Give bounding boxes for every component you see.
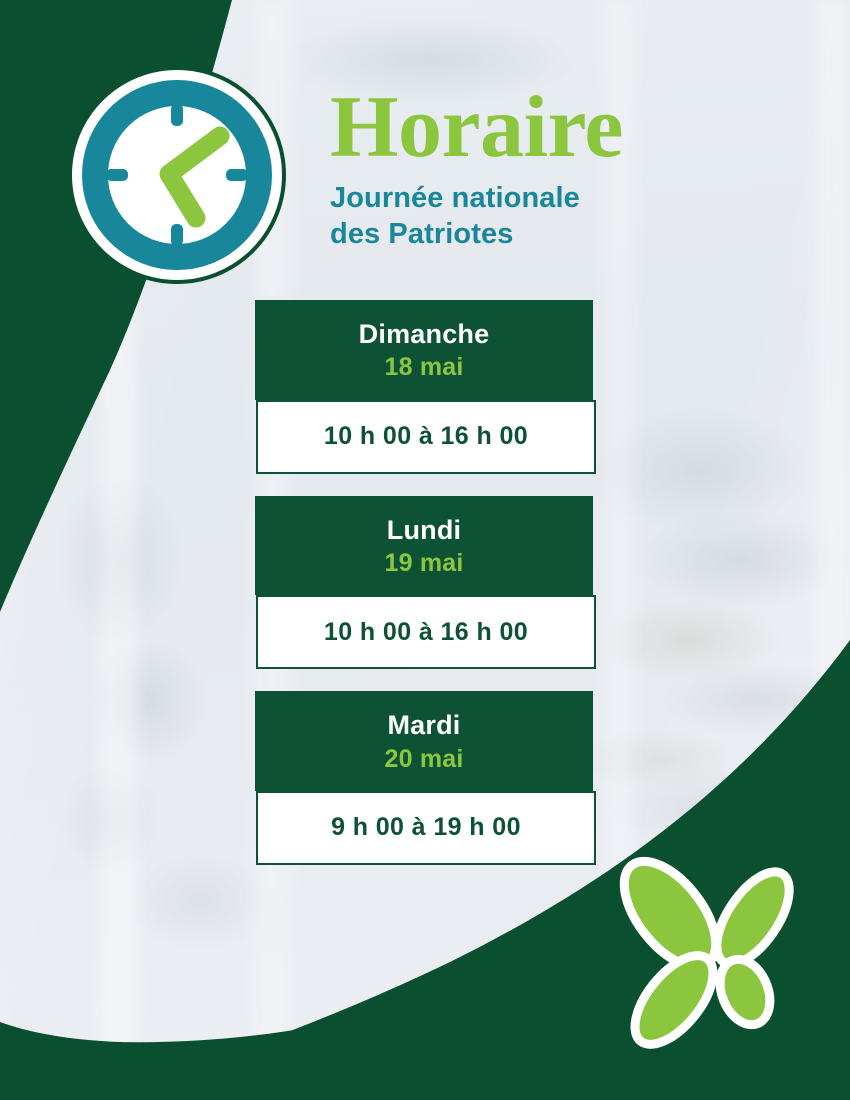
schedule-hours-value: 9 h 00 à 19 h 00 (256, 791, 596, 865)
poster-subtitle: Journée nationale des Patriotes (330, 180, 810, 253)
schedule-poster: Horaire Journée nationale des Patriotes … (0, 0, 850, 1100)
schedule-day-label: Mardi (255, 709, 593, 741)
subtitle-line-2: des Patriotes (330, 218, 513, 250)
schedule-hours-value: 10 h 00 à 16 h 00 (256, 595, 596, 669)
schedule-list: Dimanche 18 mai 10 h 00 à 16 h 00 Lundi … (255, 300, 595, 887)
schedule-card: Dimanche 18 mai 10 h 00 à 16 h 00 (255, 300, 595, 474)
schedule-card-header: Dimanche 18 mai (255, 300, 593, 400)
subtitle-line-1: Journée nationale (330, 182, 580, 214)
poster-header: Horaire Journée nationale des Patriotes (330, 86, 810, 253)
schedule-card: Mardi 20 mai 9 h 00 à 19 h 00 (255, 691, 595, 865)
schedule-date-label: 19 mai (255, 548, 593, 579)
schedule-card: Lundi 19 mai 10 h 00 à 16 h 00 (255, 496, 595, 670)
schedule-date-label: 20 mai (255, 744, 593, 775)
schedule-card-header: Mardi 20 mai (255, 691, 593, 791)
page-title: Horaire (330, 86, 810, 170)
schedule-hours-value: 10 h 00 à 16 h 00 (256, 400, 596, 474)
schedule-date-label: 18 mai (255, 352, 593, 383)
clock-icon (68, 66, 286, 284)
schedule-day-label: Lundi (255, 514, 593, 546)
schedule-day-label: Dimanche (255, 318, 593, 350)
schedule-card-header: Lundi 19 mai (255, 496, 593, 596)
butterfly-logo-icon (612, 852, 812, 1062)
